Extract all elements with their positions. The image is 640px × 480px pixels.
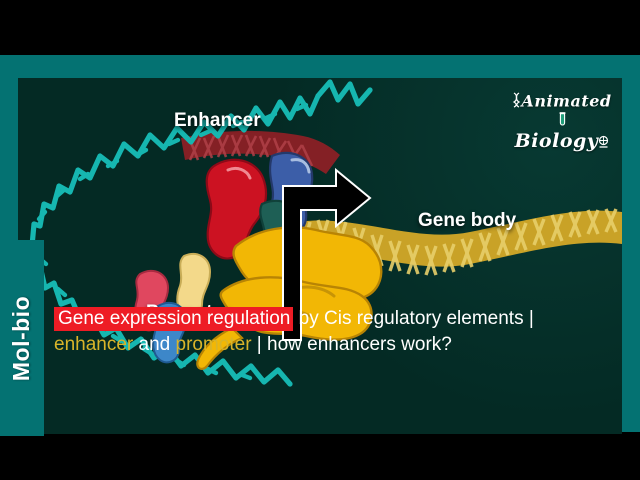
letterbox-bar-bottom (0, 432, 640, 480)
caption-line-1: Gene expression regulation by Cis regula… (54, 307, 574, 330)
logo-line-2: Biology (515, 130, 599, 152)
label-gene-body: Gene body (418, 210, 516, 232)
caption-highlight: Gene expression regulation (54, 307, 293, 331)
caption-line-1-rest: by Cis regulatory elements | (293, 308, 533, 329)
logo-line-1: Animated (521, 92, 611, 111)
caption-line-2-rest: | how enhancers work? (252, 334, 452, 355)
test-tube-icon (558, 112, 567, 131)
caption-line-2: enhancer and promoter | how enhancers wo… (54, 333, 574, 356)
caption-line-2-mid: and (133, 334, 175, 355)
mol-bio-category-tab: Mol-bio (0, 240, 44, 436)
video-title-caption: Gene expression regulation by Cis regula… (54, 307, 574, 356)
enhancer-dna-segment (181, 131, 340, 174)
label-enhancer: Enhancer (174, 110, 261, 132)
teal-border-frame: Enhancer Promoter Gene body Animated (0, 55, 640, 432)
microscope-icon (598, 132, 609, 153)
mol-bio-label: Mol-bio (9, 295, 36, 380)
letterbox-bar-top (0, 0, 640, 55)
diagram-canvas: Enhancer Promoter Gene body Animated (18, 78, 622, 434)
video-frame: Enhancer Promoter Gene body Animated (0, 0, 640, 480)
caption-keyword-enhancer: enhancer (54, 334, 133, 355)
caption-keyword-promoter: promoter (176, 334, 252, 355)
animated-biology-logo: Animated Biology (510, 92, 614, 148)
